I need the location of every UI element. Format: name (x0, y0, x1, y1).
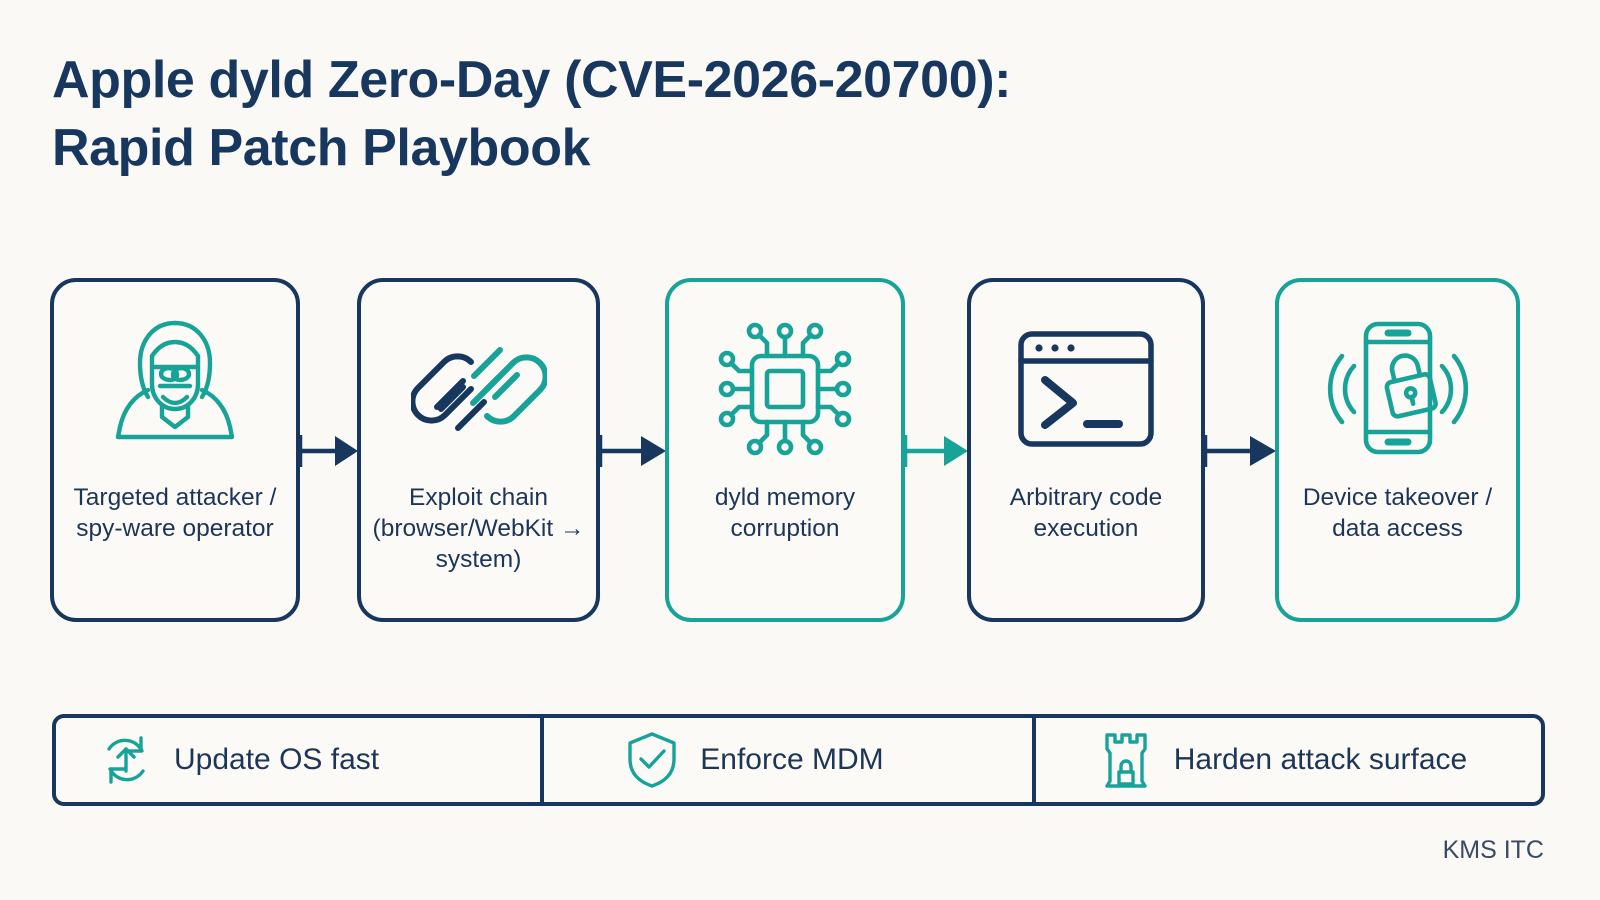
action-item-enforce-mdm[interactable]: Enforce MDM (544, 718, 1032, 802)
title-line-2: Rapid Patch Playbook (52, 114, 1352, 182)
flow-card-label: Device takeover / data access (1291, 482, 1505, 544)
flow-card-device-takeover[interactable]: Device takeover / data access (1275, 278, 1520, 622)
flow-card-exploit-chain[interactable]: Exploit chain (browser/WebKit → system) (357, 278, 600, 622)
flow-arrow-4 (1202, 433, 1279, 469)
action-item-label: Enforce MDM (700, 743, 883, 777)
flow-card-label: Arbitrary code execution (979, 482, 1193, 544)
infographic-canvas: Apple dyld Zero-Day (CVE-2026-20700): Ra… (0, 0, 1600, 900)
flow-card-targeted-attacker[interactable]: Targeted attacker / spy-ware operator (50, 278, 300, 622)
flow-arrow-3 (902, 433, 971, 469)
flow-arrow-2 (597, 433, 669, 469)
terminal-window-icon (1015, 314, 1157, 464)
attack-chain-flow: Targeted attacker / spy-ware operator (0, 278, 1600, 622)
flow-card-label: dyld memory corruption (678, 482, 892, 544)
page-title: Apple dyld Zero-Day (CVE-2026-20700): Ra… (52, 46, 1352, 182)
chain-link-icon (411, 314, 547, 464)
action-item-label: Update OS fast (174, 743, 379, 777)
flow-card-label: Targeted attacker / spy-ware operator (68, 482, 282, 544)
cpu-chip-icon (711, 314, 859, 464)
castle-lock-icon (1098, 732, 1154, 788)
hooded-attacker-icon (105, 314, 245, 464)
flow-arrow-1 (297, 433, 361, 469)
action-item-harden-attack-surface[interactable]: Harden attack surface (1036, 718, 1541, 802)
update-refresh-icon (98, 732, 154, 788)
title-line-1: Apple dyld Zero-Day (CVE-2026-20700): (52, 46, 1352, 114)
flow-card-label: Exploit chain (browser/WebKit → system) (372, 482, 586, 575)
flow-card-arbitrary-code-execution[interactable]: Arbitrary code execution (967, 278, 1205, 622)
action-item-label: Harden attack surface (1174, 743, 1467, 777)
recommended-actions-bar: Update OS fast Enforce MDM Harden a (52, 714, 1545, 806)
phone-lock-icon (1318, 314, 1478, 464)
shield-check-icon (624, 732, 680, 788)
action-item-update-os-fast[interactable]: Update OS fast (56, 718, 540, 802)
footer-credit: KMS ITC (1443, 836, 1544, 865)
flow-card-dyld-memory-corruption[interactable]: dyld memory corruption (665, 278, 905, 622)
